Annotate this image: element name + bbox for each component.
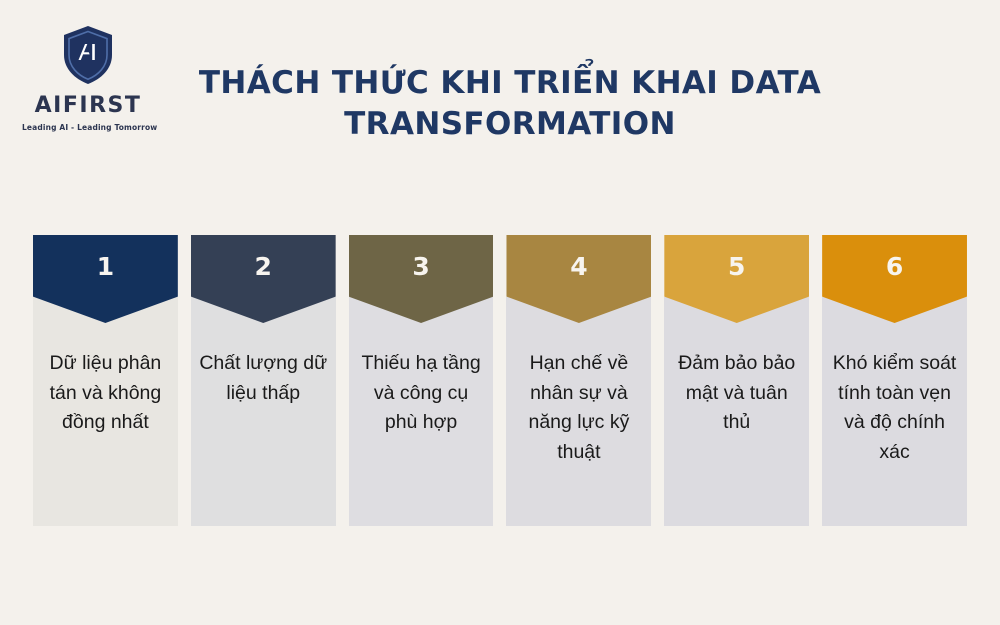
card-text: Dữ liệu phân tán và không đồng nhất [33,297,178,526]
challenge-card-1: 1 Dữ liệu phân tán và không đồng nhất [33,235,178,526]
card-text: Đảm bảo bảo mật và tuân thủ [664,297,809,526]
challenge-cards-row: 1 Dữ liệu phân tán và không đồng nhất 2 … [33,235,967,526]
card-text: Chất lượng dữ liệu thấp [191,297,336,526]
card-number: 2 [191,235,336,297]
card-header-chevron: 4 [506,235,651,323]
card-header-chevron: 3 [349,235,494,323]
card-number: 4 [506,235,651,297]
brand-tagline: Leading AI - Leading Tomorrow [22,123,154,132]
page-title: THÁCH THỨC KHI TRIỂN KHAI DATA TRANSFORM… [180,63,840,145]
card-number: 1 [33,235,178,297]
challenge-card-6: 6 Khó kiểm soát tính toàn vẹn và độ chín… [822,235,967,526]
challenge-card-5: 5 Đảm bảo bảo mật và tuân thủ [664,235,809,526]
card-header-chevron: 2 [191,235,336,323]
challenge-card-2: 2 Chất lượng dữ liệu thấp [191,235,336,526]
page-header: AIFIRST Leading AI - Leading Tomorrow TH… [0,0,1000,170]
card-header-chevron: 1 [33,235,178,323]
brand-logo: AIFIRST Leading AI - Leading Tomorrow [22,24,154,132]
brand-name: AIFIRST [22,93,154,118]
card-text: Hạn chế về nhân sự và năng lực kỹ thuật [506,297,651,526]
card-number: 5 [664,235,809,297]
card-number: 3 [349,235,494,297]
card-header-chevron: 6 [822,235,967,323]
card-text: Thiếu hạ tầng và công cụ phù hợp [349,297,494,526]
shield-ai-logo-icon [22,24,154,91]
challenge-card-3: 3 Thiếu hạ tầng và công cụ phù hợp [349,235,494,526]
card-header-chevron: 5 [664,235,809,323]
card-number: 6 [822,235,967,297]
card-text: Khó kiểm soát tính toàn vẹn và độ chính … [822,297,967,526]
challenge-card-4: 4 Hạn chế về nhân sự và năng lực kỹ thuậ… [506,235,651,526]
